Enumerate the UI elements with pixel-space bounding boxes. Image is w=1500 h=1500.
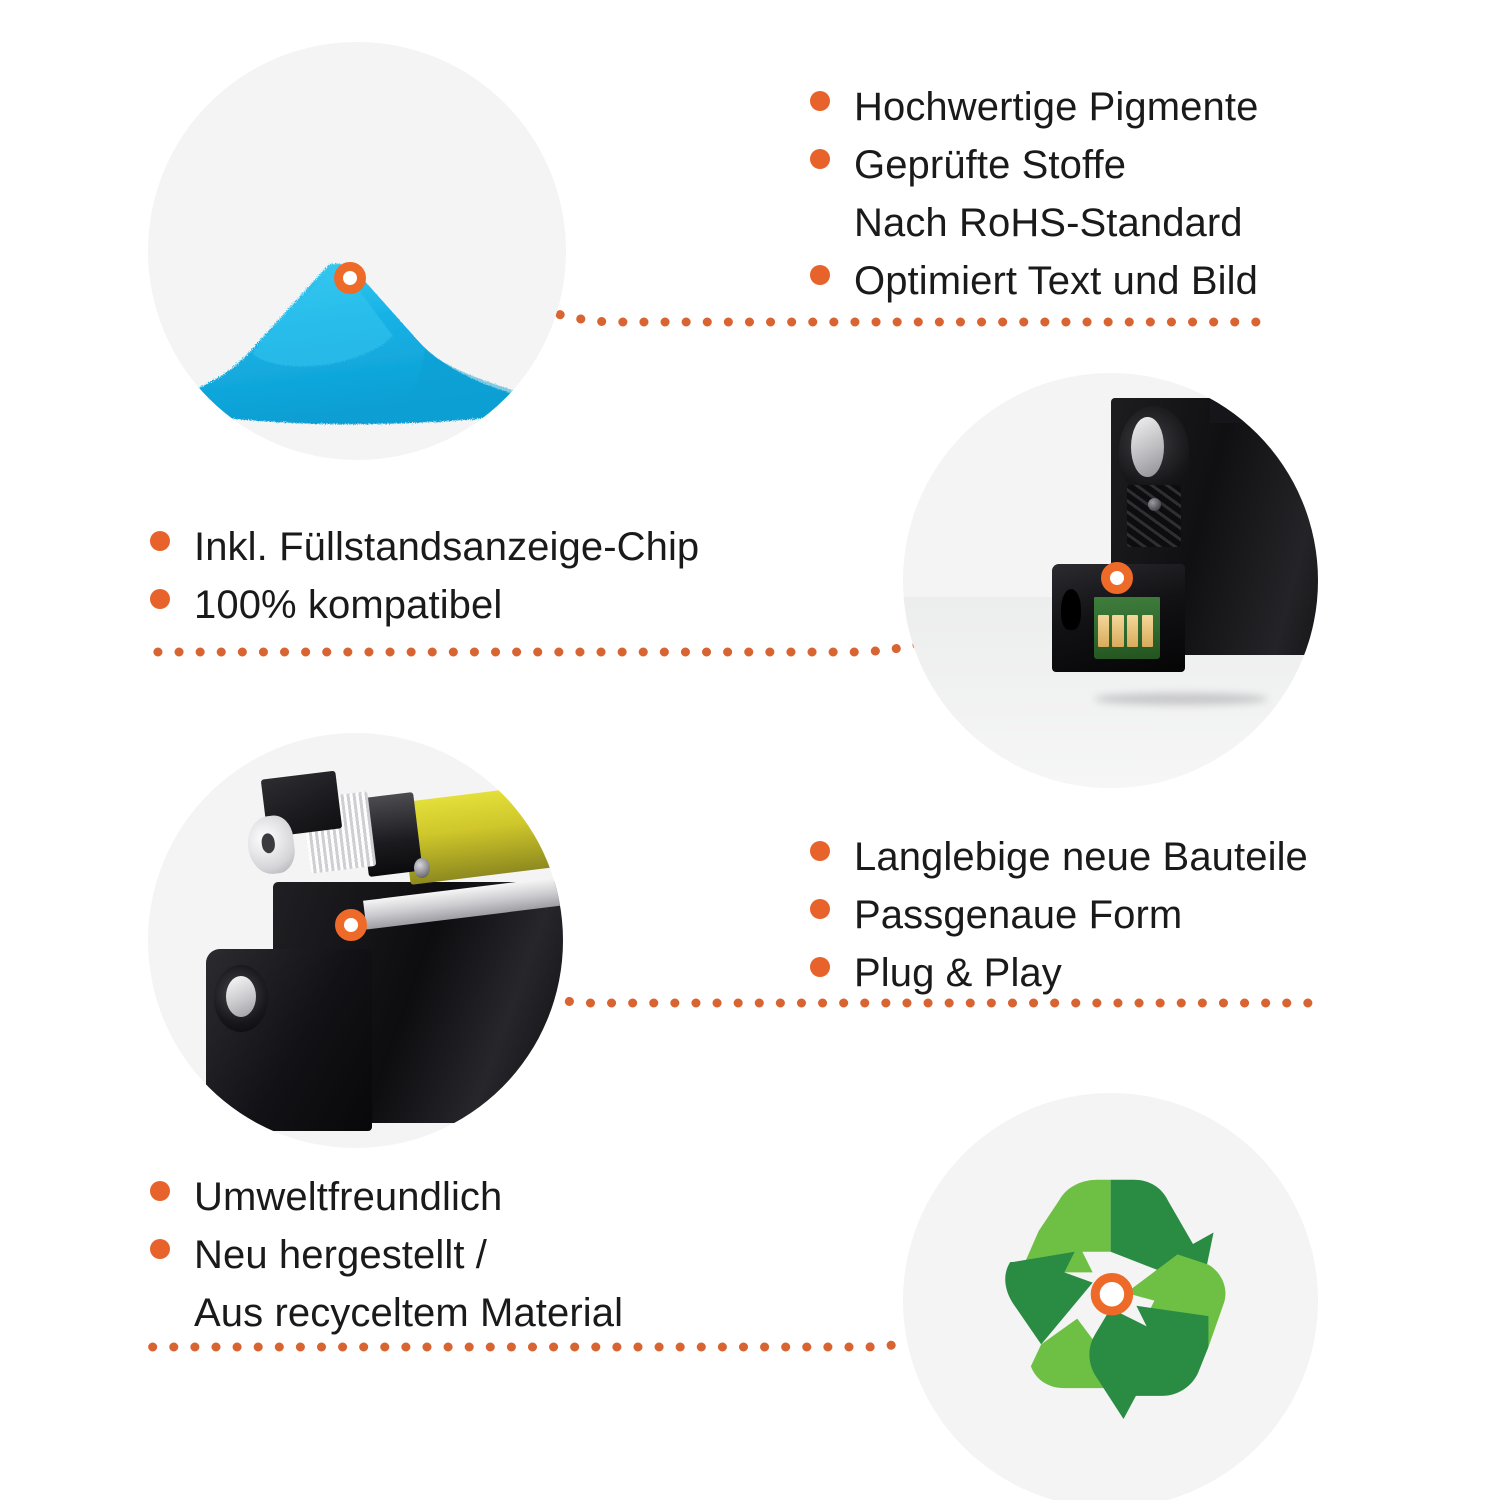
bullet-spacer-icon (810, 207, 830, 227)
bullet-icon (150, 1239, 170, 1259)
feature-text: Umweltfreundlich (194, 1168, 502, 1226)
feature-text: Inkl. Füllstandsanzeige-Chip (194, 518, 699, 576)
feature-text-toner-quality: Hochwertige Pigmente Geprüfte Stoffe Nac… (810, 78, 1258, 310)
bullet-icon (810, 149, 830, 169)
product-feature-infographic: Hochwertige Pigmente Geprüfte Stoffe Nac… (0, 0, 1500, 1500)
feature-line: Geprüfte Stoffe (810, 136, 1258, 194)
feature-text-sustainability: Umweltfreundlich Neu hergestellt / Aus r… (150, 1168, 623, 1342)
feature-line: Nach RoHS-Standard (810, 194, 1258, 252)
cartridge-end-hub (214, 965, 268, 1031)
chip-contact-pad (1112, 615, 1123, 647)
bullet-icon (810, 841, 830, 861)
feature-line: Passgenaue Form (810, 886, 1308, 944)
bullet-icon (150, 589, 170, 609)
cartridge-hub (1119, 406, 1190, 497)
feature-text: Geprüfte Stoffe (854, 136, 1126, 194)
feature-text: Passgenaue Form (854, 886, 1182, 944)
hotspot-marker-drum (335, 909, 367, 941)
bullet-spacer-icon (150, 1297, 170, 1317)
recycle-symbol-icon (903, 1093, 1318, 1500)
feature-line: Neu hergestellt / (150, 1226, 623, 1284)
feature-text: Nach RoHS-Standard (854, 194, 1243, 252)
feature-text: Hochwertige Pigmente (854, 78, 1258, 136)
feature-text-build-quality: Langlebige neue Bauteile Passgenaue Form… (810, 828, 1308, 1002)
feature-line: Umweltfreundlich (150, 1168, 623, 1226)
feature-line: Langlebige neue Bauteile (810, 828, 1308, 886)
powder-scene (148, 42, 566, 460)
chip-contact-pad (1127, 615, 1138, 647)
toner-powder-photo (148, 42, 566, 460)
cartridge-tab (1210, 381, 1256, 423)
cartridge-shadow (1094, 693, 1268, 705)
hotspot-marker-toner (334, 262, 366, 294)
feature-line: Hochwertige Pigmente (810, 78, 1258, 136)
chip-contact-pad (1142, 615, 1153, 647)
bullet-icon (810, 91, 830, 111)
feature-line: Inkl. Füllstandsanzeige-Chip (150, 518, 699, 576)
feature-line: 100% kompatibel (150, 576, 699, 634)
chip-notch (1061, 589, 1082, 631)
cartridge-chip-photo (903, 373, 1318, 788)
feature-line: Plug & Play (810, 944, 1308, 1002)
hotspot-marker-recycle (1095, 1277, 1128, 1310)
chip-pcb (1094, 597, 1160, 659)
feature-text-chip-compatibility: Inkl. Füllstandsanzeige-Chip 100% kompat… (150, 518, 699, 634)
feature-text: Aus recyceltem Material (194, 1284, 623, 1342)
cartridge-screw (1148, 498, 1161, 511)
bullet-icon (810, 899, 830, 919)
feature-text: Optimiert Text und Bild (854, 252, 1258, 310)
cartridge-drum-photo (148, 733, 563, 1148)
bullet-icon (150, 1181, 170, 1201)
cartridge-vent (1127, 485, 1181, 547)
feature-text: Langlebige neue Bauteile (854, 828, 1308, 886)
drum-scene (148, 733, 563, 1148)
feature-line: Aus recyceltem Material (150, 1284, 623, 1342)
feature-text: Neu hergestellt / (194, 1226, 487, 1284)
feature-line: Optimiert Text und Bild (810, 252, 1258, 310)
bullet-icon (150, 531, 170, 551)
chip-contact-pad (1098, 615, 1109, 647)
feature-text: Plug & Play (854, 944, 1062, 1002)
bullet-icon (810, 957, 830, 977)
recycle-arrows (982, 1172, 1239, 1429)
hotspot-marker-chip (1101, 562, 1133, 594)
bullet-icon (810, 265, 830, 285)
feature-text: 100% kompatibel (194, 576, 502, 634)
